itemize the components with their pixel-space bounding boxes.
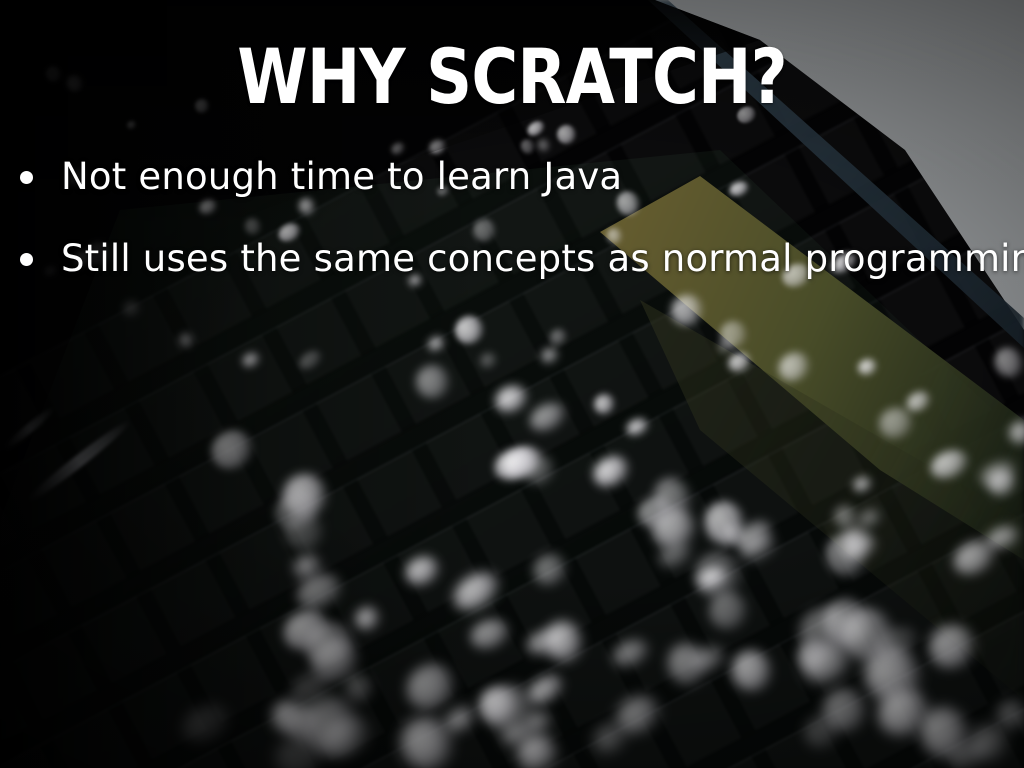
bullet-text: Still uses the same concepts as normal p… <box>61 237 1024 281</box>
list-item: Still uses the same concepts as normal p… <box>0 237 1024 281</box>
bullet-dot-icon <box>20 171 33 184</box>
presentation-slide: WHY SCRATCH? Not enough time to learn Ja… <box>0 0 1024 768</box>
slide-title: WHY SCRATCH? <box>82 38 942 116</box>
list-item: Not enough time to learn Java <box>0 155 1024 199</box>
bullet-list: Not enough time to learn Java Still uses… <box>0 155 1024 319</box>
bullet-text: Not enough time to learn Java <box>61 155 622 199</box>
bullet-dot-icon <box>20 253 33 266</box>
slide-content: WHY SCRATCH? Not enough time to learn Ja… <box>0 0 1024 768</box>
